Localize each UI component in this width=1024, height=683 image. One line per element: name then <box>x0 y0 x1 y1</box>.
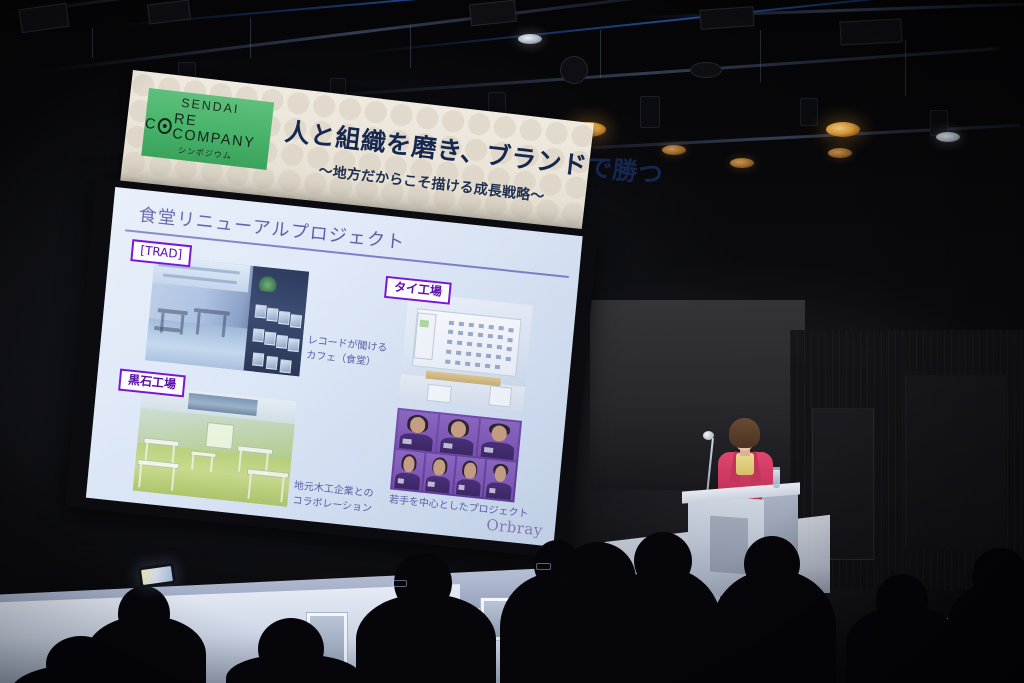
slide-content: 食堂リニューアルプロジェクト [TRAD] <box>86 187 583 547</box>
stage-spotlight-cool <box>936 132 960 142</box>
employee-portrait <box>484 459 516 500</box>
audience-body <box>86 616 206 683</box>
logo-c: C <box>144 116 158 132</box>
audience-glasses-icon <box>392 580 407 587</box>
water-bottle <box>773 470 780 488</box>
kuro-window <box>205 422 234 450</box>
podium-front-plate <box>710 516 748 575</box>
photo-employee-grid <box>390 408 522 503</box>
caption-trad-cafe: レコードが聞ける カフェ（食堂） <box>306 334 388 371</box>
tag-trad: [TRAD] <box>130 239 192 267</box>
trad-plant <box>258 275 277 293</box>
sendai-core-company-logo: SENDAI CRE COMPANY シンポジウム <box>141 88 274 170</box>
speaker-scarf <box>736 453 754 475</box>
audience-body <box>946 582 1024 683</box>
audience-body <box>846 606 962 683</box>
employee-portrait <box>453 456 485 497</box>
employee-portrait <box>396 410 438 452</box>
tag-kuroishi-factory: 黒石工場 <box>118 369 186 398</box>
stage-spotlight-warm <box>730 158 754 168</box>
photo-trad-cafe <box>145 256 309 377</box>
stage-spotlight-warm <box>826 122 860 137</box>
employee-portrait <box>477 419 519 461</box>
stage-spotlight-warm <box>828 148 852 158</box>
audience-body <box>356 594 496 683</box>
photo-kuroishi-cafeteria <box>133 385 297 507</box>
logo-line-core-company: CRE COMPANY <box>143 109 271 152</box>
stage-spotlight-warm <box>662 145 686 155</box>
right-wall-panel <box>905 375 1006 550</box>
microphone-head-icon <box>703 431 714 440</box>
speaker-hair <box>729 418 760 448</box>
photo-scene: SENDAI CRE COMPANY シンポジウム 人と組織を磨き、ブランドで勝… <box>0 0 1024 683</box>
stage-spotlight-cool <box>518 34 542 44</box>
employee-portrait <box>437 414 479 456</box>
thai-green-sign <box>419 320 428 328</box>
employee-portrait <box>423 453 455 494</box>
tag-thai-factory: タイ工場 <box>384 276 452 305</box>
caption-kuroishi: 地元木工企業との コラボレーション <box>292 479 374 516</box>
logo-line-symposium: シンポジウム <box>178 147 233 161</box>
logo-o-icon <box>157 117 173 135</box>
audience-glasses-icon <box>536 563 551 570</box>
employee-portrait <box>392 450 424 491</box>
photo-thai-factory <box>398 292 532 413</box>
audience-body <box>606 568 722 683</box>
orbray-logo: Orbray <box>486 516 544 540</box>
audience-body <box>712 570 836 683</box>
projection-screen: 食堂リニューアルプロジェクト [TRAD] <box>65 178 598 559</box>
